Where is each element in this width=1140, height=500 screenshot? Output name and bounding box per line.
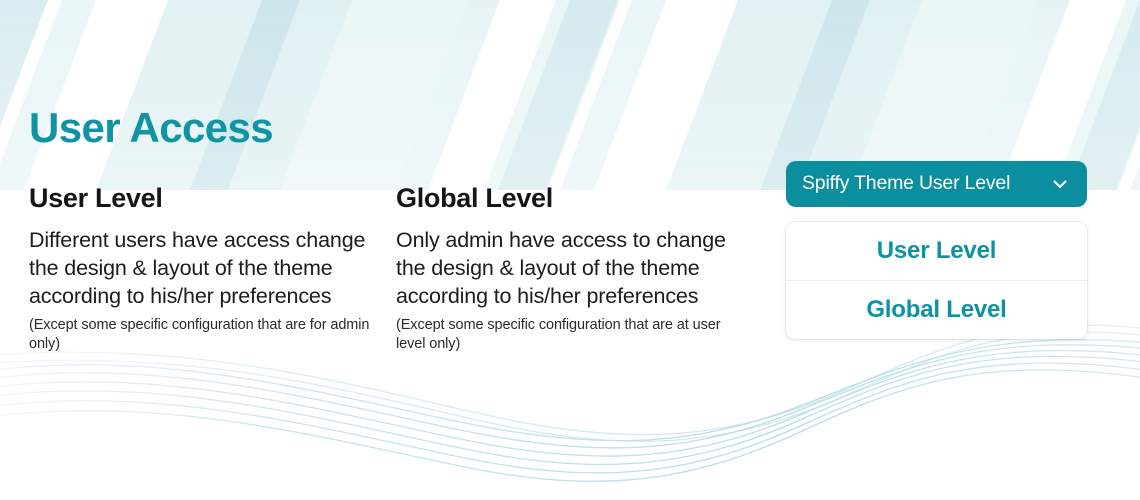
column-body: Only admin have access to change the des… — [396, 226, 741, 310]
column-note: (Except some specific configuration that… — [29, 316, 374, 354]
dropdown-options-panel: User Level Global Level — [786, 222, 1087, 339]
dropdown-option-user-level[interactable]: User Level — [786, 222, 1087, 280]
user-level-dropdown: Spiffy Theme User Level User Level Globa… — [786, 161, 1087, 339]
column-user-level: User Level Different users have access c… — [29, 184, 374, 354]
column-heading: User Level — [29, 184, 374, 214]
column-heading: Global Level — [396, 184, 741, 214]
column-body: Different users have access change the d… — [29, 226, 374, 310]
page-title: User Access — [29, 105, 273, 151]
chevron-down-icon[interactable] — [1051, 175, 1069, 193]
dropdown-selected-label: Spiffy Theme User Level — [802, 174, 1010, 194]
slide-root: User Access User Level Different users h… — [0, 0, 1140, 500]
dropdown-toggle-button[interactable]: Spiffy Theme User Level — [786, 161, 1087, 207]
column-note: (Except some specific configuration that… — [396, 316, 741, 354]
dropdown-option-global-level[interactable]: Global Level — [786, 280, 1087, 339]
column-global-level: Global Level Only admin have access to c… — [396, 184, 741, 354]
